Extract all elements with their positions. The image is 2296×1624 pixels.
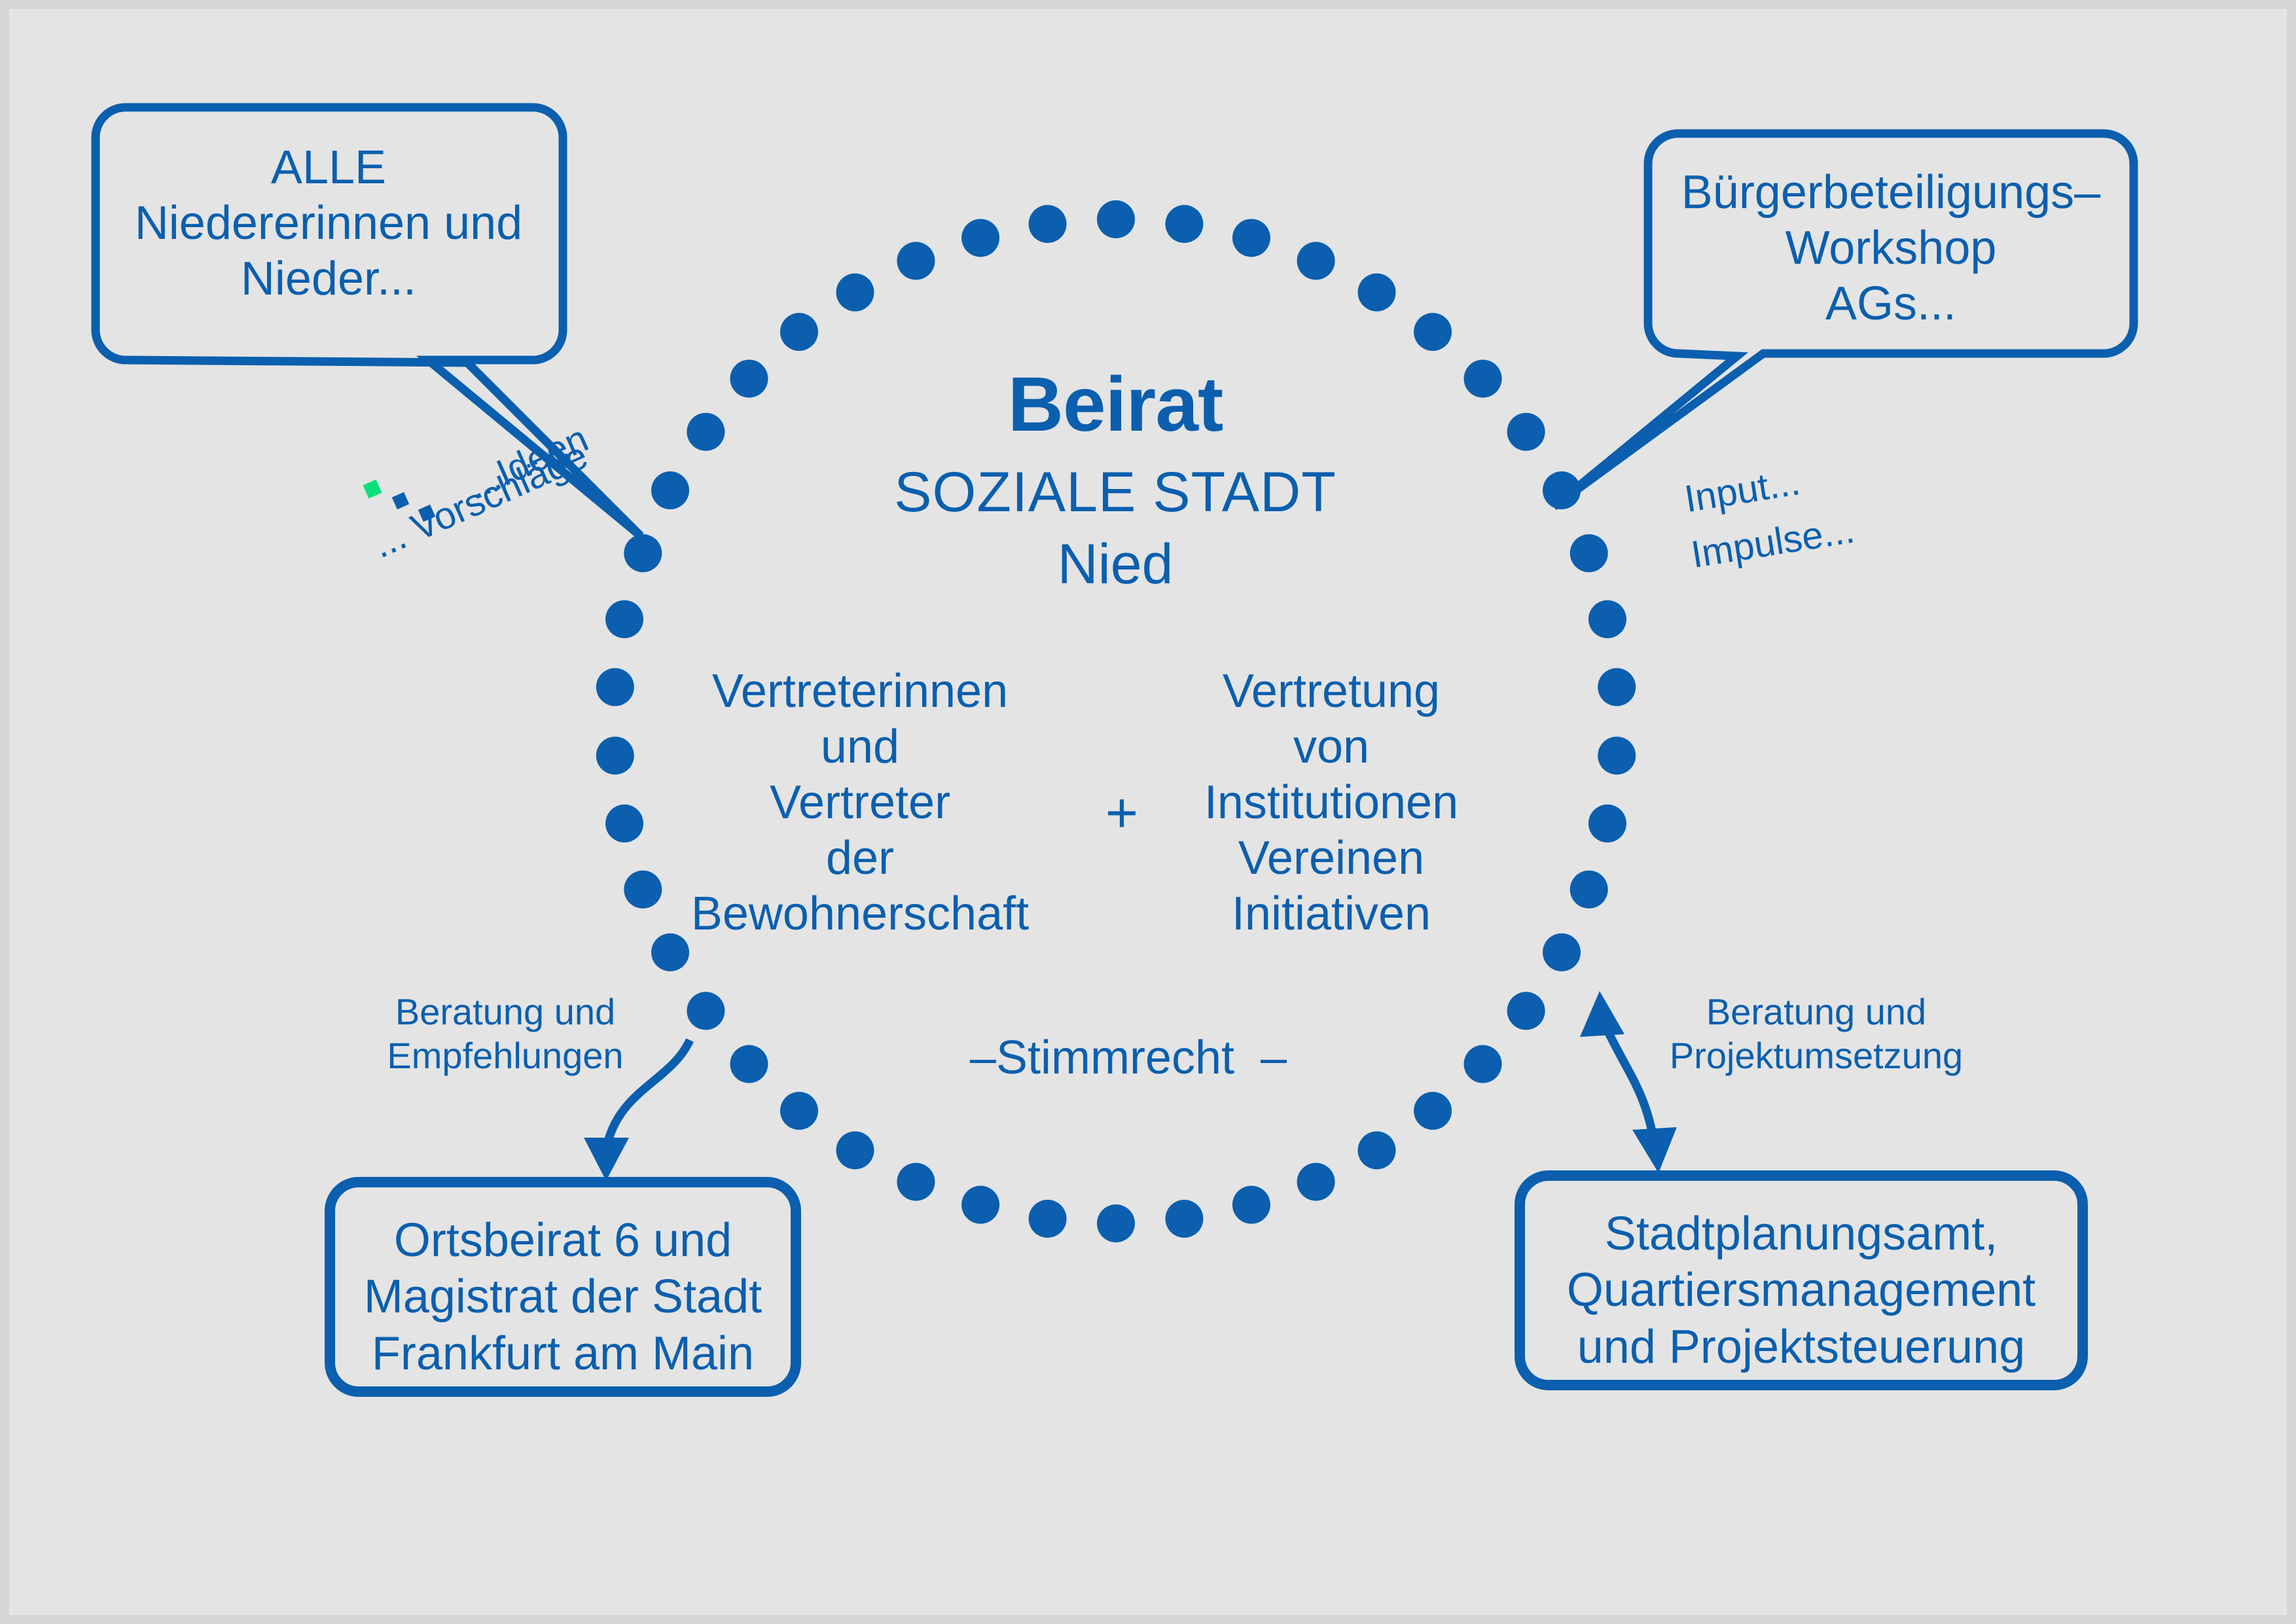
page-title: Beirat xyxy=(821,361,1410,448)
center-subtitle-line1: SOZIALE STADT xyxy=(821,461,1410,524)
bubble-top-left-label: ALLE Niedererinnen und Nieder... xyxy=(107,140,550,307)
plus-sign: + xyxy=(1083,782,1161,844)
box-bottom-left-label: Ortsbeirat 6 und Magistrat der Stadt Fra… xyxy=(330,1212,796,1382)
label-beratung-projektumsetzung: Beratung und Projektumsetzung xyxy=(1662,990,1970,1077)
diagram-canvas: Beirat SOZIALE STADT Nied Vertreterinnen… xyxy=(9,9,2287,1615)
dot-marker-1 xyxy=(392,492,409,509)
bubble-top-right-label: Bürgerbeteiligungs– Workshop AGs... xyxy=(1652,165,2130,332)
center-subtitle-line2: Nied xyxy=(821,533,1410,596)
label-beratung-empfehlungen: Beratung und Empfehlungen xyxy=(368,990,643,1077)
center-left-column: Vertreterinnen und Vertreter der Bewohne… xyxy=(690,664,1030,942)
green-square-marker xyxy=(363,479,382,498)
box-bottom-right-label: Stadtplanungsamt, Quartiersmanagement un… xyxy=(1520,1206,2083,1375)
stimmrecht-note: –Stimmrecht – xyxy=(925,1032,1331,1085)
center-right-column: Vertretung von Institutionen Vereinen In… xyxy=(1194,664,1469,942)
